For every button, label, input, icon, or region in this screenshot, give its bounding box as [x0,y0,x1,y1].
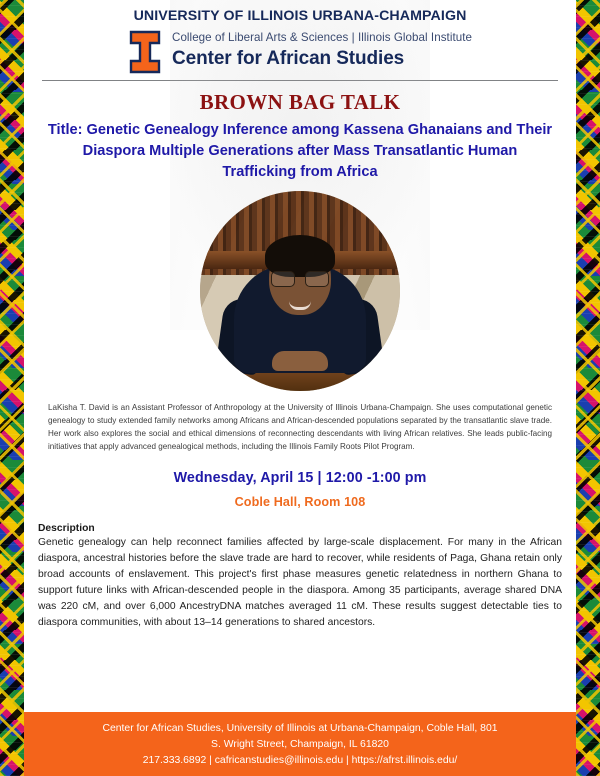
footer-address-line-2: S. Wright Street, Champaign, IL 61820 [40,737,560,753]
talk-series-kicker: BROWN BAG TALK [38,90,562,115]
kente-pattern-overlay-left [0,0,24,776]
flyer-header: UNIVERSITY OF ILLINOIS URBANA-CHAMPAIGN … [24,0,576,74]
kente-pattern-overlay-right [576,0,600,776]
illinois-block-i-logo [128,30,162,74]
brand-text: College of Liberal Arts & Sciences | Ill… [172,29,472,72]
kente-border-right [576,0,600,776]
photo-person-glasses [271,271,329,286]
event-flyer: UNIVERSITY OF ILLINOIS URBANA-CHAMPAIGN … [0,0,600,776]
event-datetime: Wednesday, April 15 | 12:00 -1:00 pm [24,470,576,486]
college-name: College of Liberal Arts & Sciences | Ill… [172,30,472,46]
university-name: UNIVERSITY OF ILLINOIS URBANA-CHAMPAIGN [42,8,558,26]
event-location: Coble Hall, Room 108 [24,495,576,509]
flyer-footer: Center for African Studies, University o… [24,712,576,776]
kente-border-left [0,0,24,776]
speaker-bio: LaKisha T. David is an Assistant Profess… [48,401,552,453]
speaker-photo-wrap [24,191,576,391]
description-section: Description Genetic genealogy can help r… [38,523,562,631]
flyer-body: UNIVERSITY OF ILLINOIS URBANA-CHAMPAIGN … [24,0,576,776]
photo-person-hands [272,351,328,371]
talk-title-block: BROWN BAG TALK Title: Genetic Genealogy … [24,81,576,182]
talk-title: Title: Genetic Genealogy Inference among… [38,120,562,182]
footer-address-line-1: Center for African Studies, University o… [40,721,560,737]
speaker-portrait-lakisha-t-david [200,191,400,391]
description-body: Genetic genealogy can help reconnect fam… [38,535,562,631]
footer-contact-line: 217.333.6892 | cafricanstudies@illinois.… [40,753,560,769]
brand-row: College of Liberal Arts & Sciences | Ill… [42,29,558,74]
description-heading: Description [38,523,562,534]
unit-name: Center for African Studies [172,47,472,72]
